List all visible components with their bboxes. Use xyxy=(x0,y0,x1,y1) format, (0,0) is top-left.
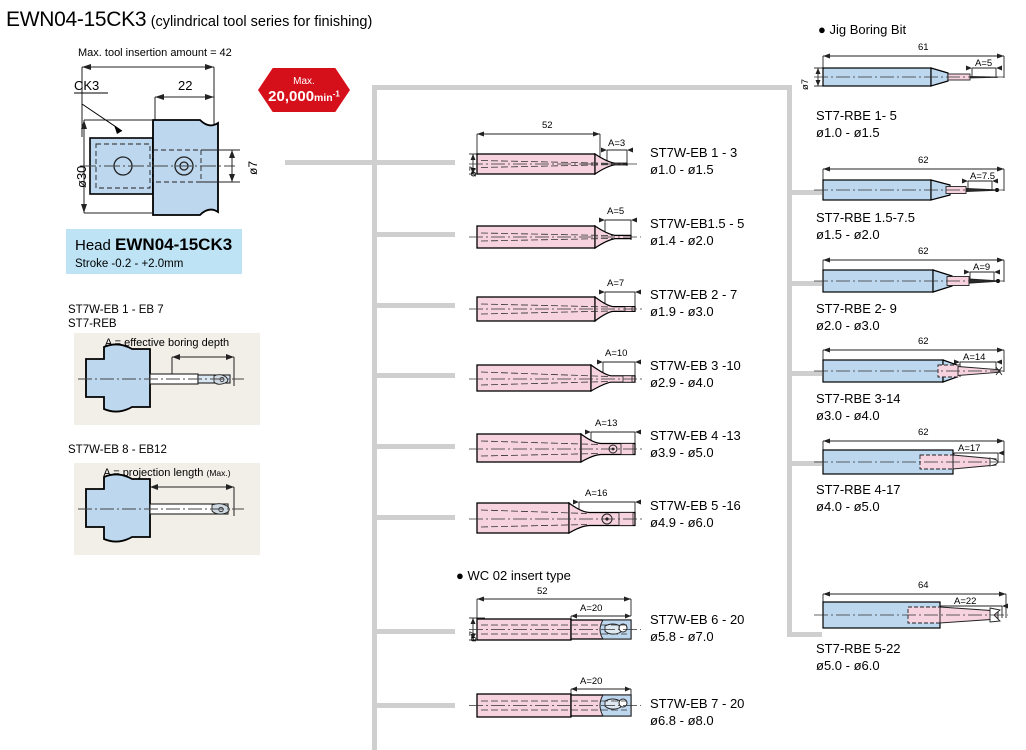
wc02-insert-heading: ● WC 02 insert type xyxy=(456,568,571,583)
eb-tool-4-range: ø2.9 - ø4.0 xyxy=(650,374,741,391)
head-info-box: Head EWN04-15CK3 Stroke -0.2 - +2.0mm xyxy=(66,229,242,274)
eb-tool-1-range: ø1.0 - ø1.5 xyxy=(650,161,737,178)
eb-tool-6-name: ST7W-EB 5 -16 xyxy=(650,497,741,514)
connector-branch-eb-6 xyxy=(377,515,455,520)
eb-tool-7-range: ø5.8 - ø7.0 xyxy=(650,628,744,645)
eb-tool-5-range: ø3.9 - ø5.0 xyxy=(650,444,741,461)
eb-tool-6-range: ø4.9 - ø6.0 xyxy=(650,514,741,531)
connector-trunk-top xyxy=(372,85,792,90)
rpm-unit: min xyxy=(314,92,333,104)
eb-tool-2-name: ST7W-EB1.5 - 5 xyxy=(650,215,744,232)
rbe-tool-1-dim-dia: ø7 xyxy=(800,79,811,90)
rbe-tool-5-name: ST7-RBE 4-17 xyxy=(816,481,901,498)
rbe-tool-3-label: ST7-RBE 2- 9 ø2.0 - ø3.0 xyxy=(816,300,897,334)
rbe-tool-4-label: ST7-RBE 3-14 ø3.0 - ø4.0 xyxy=(816,390,901,424)
head-dim-d7: ø7 xyxy=(246,161,260,175)
rbe-tool-1-name: ST7-RBE 1- 5 xyxy=(816,107,897,124)
connector-branch-eb-2 xyxy=(377,232,455,237)
eb-tool-3-dim-A: A=7 xyxy=(607,278,624,289)
rbe-tool-2-label: ST7-RBE 1.5-7.5 ø1.5 - ø2.0 xyxy=(816,209,915,243)
rbe-tool-3-range: ø2.0 - ø3.0 xyxy=(816,317,897,334)
eb-tool-8-range: ø6.8 - ø8.0 xyxy=(650,712,744,729)
eb-tool-7-dim-dia: ø7 xyxy=(468,631,479,642)
eb-tool-6-dim-A: A=16 xyxy=(585,488,607,499)
eb-tool-8-name: ST7W-EB 7 - 20 xyxy=(650,695,744,712)
rbe-tool-6-dim-length: 64 xyxy=(918,580,929,591)
inset-2-box: A = projection length (Max.) xyxy=(74,463,260,555)
rbe-tool-5-range: ø4.0 - ø5.0 xyxy=(816,498,901,515)
eb-tool-8-label: ST7W-EB 7 - 20 ø6.8 - ø8.0 xyxy=(650,695,744,729)
rbe-tool-4-dim-length: 62 xyxy=(918,336,929,347)
connector-branch-eb-4 xyxy=(377,373,455,378)
rbe-tool-4-dim-A: A=14 xyxy=(963,352,985,363)
eb-tool-4-dim-A: A=10 xyxy=(605,348,627,359)
rbe-tool-1-dim-length: 61 xyxy=(918,42,929,53)
rpm-max-label: Max. xyxy=(293,77,315,87)
rbe-tool-4: 62 A=14 xyxy=(790,336,1020,391)
rbe-tool-2-dim-length: 62 xyxy=(918,155,929,166)
jig-boring-bit-heading: ● Jig Boring Bit xyxy=(818,22,906,37)
rpm-exponent: -1 xyxy=(333,89,340,98)
head-box-stroke: Stroke -0.2 - +2.0mm xyxy=(75,258,242,270)
rbe-tool-3-dim-length: 62 xyxy=(918,246,929,257)
eb-tool-1-dim-A: A=3 xyxy=(608,138,625,149)
eb-tool-6: A=16 xyxy=(455,482,655,546)
eb-tool-7-dim-length: 52 xyxy=(537,586,548,597)
rbe-tool-5-dim-length: 62 xyxy=(918,427,929,438)
rbe-tool-5-label: ST7-RBE 4-17 ø4.0 - ø5.0 xyxy=(816,481,901,515)
eb-tool-5-dim-A: A=13 xyxy=(595,418,617,429)
bullet-icon: ● xyxy=(818,22,826,37)
inset-2-title: ST7W-EB 8 - EB12 xyxy=(68,443,167,457)
connector-head-to-trunk xyxy=(285,160,455,165)
eb-tool-2-dim-A: A=5 xyxy=(607,206,624,217)
rbe-tool-6-range: ø5.0 - ø6.0 xyxy=(816,657,901,674)
max-rpm-badge: Max. 20,000min-1 xyxy=(258,68,350,112)
rbe-tool-6-label: ST7-RBE 5-22 ø5.0 - ø6.0 xyxy=(816,640,901,674)
connector-branch-eb-3 xyxy=(377,303,455,308)
wc02-insert-heading-text: WC 02 insert type xyxy=(467,568,570,583)
rpm-number: 20,000 xyxy=(268,88,314,105)
rbe-tool-3-dim-A: A=9 xyxy=(973,262,990,273)
eb-tool-3: A=7 xyxy=(455,272,655,332)
head-label-ck3: CK3 xyxy=(74,78,99,93)
rbe-tool-2-dim-A: A=7.5 xyxy=(970,171,995,182)
eb-tool-1-name: ST7W-EB 1 - 3 xyxy=(650,144,737,161)
eb-tool-2-label: ST7W-EB1.5 - 5 ø1.4 - ø2.0 xyxy=(650,215,744,249)
rbe-tool-4-range: ø3.0 - ø4.0 xyxy=(816,407,901,424)
connector-branch-eb-7 xyxy=(377,629,455,634)
eb-tool-3-range: ø1.9 - ø3.0 xyxy=(650,303,737,320)
page-title-main: EWN04-15CK3 xyxy=(6,8,146,31)
eb-tool-1-label: ST7W-EB 1 - 3 ø1.0 - ø1.5 xyxy=(650,144,737,178)
rbe-tool-2: 62 A=7.5 xyxy=(790,155,1020,210)
eb-tool-1-dim-dia: ø7 xyxy=(468,166,479,177)
page-title-sub: (cylindrical tool series for finishing) xyxy=(151,14,373,30)
eb-tool-1: 52 A=3 ø7 xyxy=(455,120,655,190)
rbe-tool-1: 61 A=5 ø7 xyxy=(790,42,1020,100)
rbe-tool-2-name: ST7-RBE 1.5-7.5 xyxy=(816,209,915,226)
eb-tool-1-dim-length: 52 xyxy=(542,120,553,131)
rbe-tool-3-name: ST7-RBE 2- 9 xyxy=(816,300,897,317)
bullet-icon: ● xyxy=(456,568,464,583)
eb-tool-5: A=13 xyxy=(455,412,655,474)
connector-branch-eb-5 xyxy=(377,444,455,449)
inset-2-title-line1: ST7W-EB 8 - EB12 xyxy=(68,443,167,457)
eb-tool-4: A=10 xyxy=(455,342,655,402)
eb-tool-4-label: ST7W-EB 3 -10 ø2.9 - ø4.0 xyxy=(650,357,741,391)
eb-tool-8: A=20 xyxy=(455,672,655,734)
connector-branch-eb-8 xyxy=(377,703,455,708)
head-drawing: Max. tool insertion amount = 42 22 CK3 ø… xyxy=(60,45,290,220)
eb-tool-7-name: ST7W-EB 6 - 20 xyxy=(650,611,744,628)
rbe-tool-3: 62 A=9 xyxy=(790,246,1020,301)
rbe-tool-1-label: ST7-RBE 1- 5 ø1.0 - ø1.5 xyxy=(816,107,897,141)
rbe-tool-2-range: ø1.5 - ø2.0 xyxy=(816,226,915,243)
inset-1-title-line1: ST7W-EB 1 - EB 7 xyxy=(68,303,164,317)
eb-tool-2: A=5 xyxy=(455,200,655,260)
eb-tool-6-label: ST7W-EB 5 -16 ø4.9 - ø6.0 xyxy=(650,497,741,531)
eb-tool-7-label: ST7W-EB 6 - 20 ø5.8 - ø7.0 xyxy=(650,611,744,645)
eb-tool-4-name: ST7W-EB 3 -10 xyxy=(650,357,741,374)
rbe-tool-6-dim-A: A=22 xyxy=(954,596,976,607)
eb-tool-8-dim-A: A=20 xyxy=(580,676,602,687)
jig-boring-bit-heading-text: Jig Boring Bit xyxy=(829,22,906,37)
head-box-label: Head xyxy=(75,237,111,254)
eb-tool-3-name: ST7W-EB 2 - 7 xyxy=(650,286,737,303)
rbe-tool-1-dim-A: A=5 xyxy=(975,58,992,69)
rbe-tool-6-name: ST7-RBE 5-22 xyxy=(816,640,901,657)
rbe-tool-1-range: ø1.0 - ø1.5 xyxy=(816,124,897,141)
page-title: EWN04-15CK3 (cylindrical tool series for… xyxy=(6,8,372,32)
rbe-tool-4-name: ST7-RBE 3-14 xyxy=(816,390,901,407)
eb-tool-7: 52 A=20 ø7 xyxy=(455,586,655,658)
head-box-model: EWN04-15CK3 xyxy=(115,235,232,254)
inset-1-title: ST7W-EB 1 - EB 7 ST7-REB xyxy=(68,303,164,331)
rbe-tool-5-dim-A: A=17 xyxy=(958,443,980,454)
eb-tool-5-label: ST7W-EB 4 -13 ø3.9 - ø5.0 xyxy=(650,427,741,461)
inset-1-box: A = effective boring depth xyxy=(74,333,260,425)
connector-trunk-left xyxy=(372,85,377,750)
rbe-tool-6: 64 A=22 xyxy=(790,580,1020,642)
head-dim-22: 22 xyxy=(178,78,192,93)
rbe-tool-5: 62 A=17 xyxy=(790,427,1020,485)
eb-tool-3-label: ST7W-EB 2 - 7 ø1.9 - ø3.0 xyxy=(650,286,737,320)
inset-1-title-line2: ST7-REB xyxy=(68,317,164,331)
head-dim-insertion: Max. tool insertion amount = 42 xyxy=(78,47,232,59)
head-dim-d30: ø30 xyxy=(74,166,89,188)
eb-tool-2-range: ø1.4 - ø2.0 xyxy=(650,232,744,249)
eb-tool-7-dim-A: A=20 xyxy=(580,603,602,614)
eb-tool-5-name: ST7W-EB 4 -13 xyxy=(650,427,741,444)
rpm-value: 20,000min-1 xyxy=(268,89,340,104)
